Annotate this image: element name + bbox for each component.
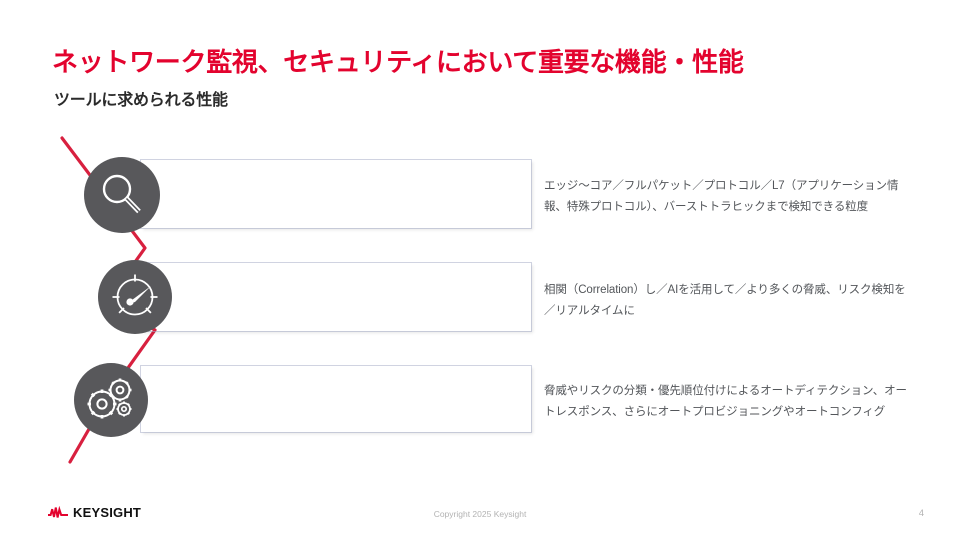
magnifier-icon bbox=[84, 157, 160, 233]
feature-description-1: エッジ～コア／フルパケット／プロトコル／L7（アプリケーション情報、特殊プロトコ… bbox=[544, 176, 914, 219]
slide: ネットワーク監視、セキュリティにおいて重要な機能・性能 ツールに求められる性能 … bbox=[0, 0, 960, 540]
feature-description-3: 脅威やリスクの分類・優先順位付けによるオートディテクション、オートレスポンス、さ… bbox=[544, 381, 914, 424]
copyright-notice: Copyright 2025 Keysight bbox=[0, 509, 960, 519]
feature-label-2: 高度かつ迅速な検知・解析 bbox=[186, 284, 444, 314]
gears-icon bbox=[74, 363, 148, 437]
page-number: 4 bbox=[919, 508, 924, 519]
feature-label-3: 自動化 bbox=[167, 387, 232, 417]
three-step-diagram: 網羅性、粒度 エッジ～コア／フルパケット／プロトコル／L7（アプリケーション情報… bbox=[0, 0, 960, 540]
feature-description-2: 相関（Correlation）し／AIを活用して／より多くの脅威、リスク検知を／… bbox=[544, 280, 914, 323]
feature-label-1: 網羅性、粒度 bbox=[163, 181, 292, 211]
gauge-icon bbox=[98, 260, 172, 334]
